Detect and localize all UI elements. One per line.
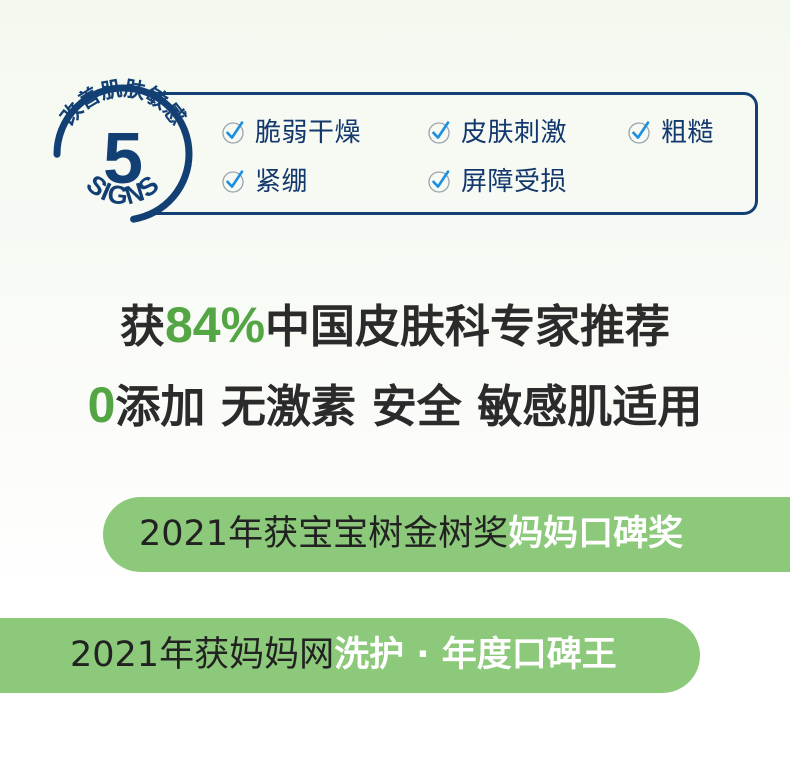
sign-item-4: 屏障受损 bbox=[427, 169, 627, 195]
signs-checklist-panel: 脆弱干燥 皮肤刺激 粗糙 bbox=[205, 92, 758, 215]
award-banner-2-emphasis: 洗护 · 年度口碑王 bbox=[334, 635, 617, 675]
check-circle-icon bbox=[627, 120, 652, 145]
five-signs-badge: 改善肌肤敏感 5 SIGNS bbox=[47, 78, 199, 230]
headline-zero-value: 0 bbox=[88, 377, 116, 433]
headline-line2-suffix: 添加 无激素 安全 敏感肌适用 bbox=[115, 380, 702, 433]
headline-line1-suffix: 中国皮肤科专家推荐 bbox=[265, 300, 670, 353]
award-banner-1-emphasis: 妈妈口碑奖 bbox=[508, 514, 683, 554]
sign-label: 脆弱干燥 bbox=[255, 120, 361, 146]
award-banner-1-text: 2021年获宝宝树金树奖妈妈口碑奖 bbox=[139, 517, 683, 552]
check-circle-icon bbox=[221, 120, 246, 145]
check-circle-icon bbox=[427, 120, 452, 145]
award-banner-2-plain: 2021年获妈妈网 bbox=[70, 635, 334, 675]
headline-block: 获84%中国皮肤科专家推荐 0添加 无激素 安全 敏感肌适用 bbox=[0, 292, 790, 440]
headline-line1-prefix: 获 bbox=[120, 300, 165, 353]
check-circle-icon bbox=[221, 169, 246, 194]
headline-line-1: 获84%中国皮肤科专家推荐 bbox=[0, 292, 790, 360]
award-banner-2: 2021年获妈妈网洗护 · 年度口碑王 bbox=[0, 618, 700, 693]
sign-item-0: 脆弱干燥 bbox=[221, 120, 427, 146]
sign-item-2: 粗糙 bbox=[627, 120, 751, 146]
product-feature-graphic: 改善肌肤敏感 5 SIGNS 脆弱干燥 bbox=[0, 0, 790, 764]
sign-label: 屏障受损 bbox=[461, 169, 567, 195]
headline-percent-value: 84% bbox=[165, 297, 265, 353]
award-banner-1: 2021年获宝宝树金树奖妈妈口碑奖 bbox=[103, 497, 790, 572]
sign-item-1: 皮肤刺激 bbox=[427, 120, 627, 146]
award-banner-1-plain: 2021年获宝宝树金树奖 bbox=[139, 514, 508, 554]
sign-item-3: 紧绷 bbox=[221, 169, 427, 195]
award-banner-2-text: 2021年获妈妈网洗护 · 年度口碑王 bbox=[70, 638, 617, 673]
signs-checklist-grid: 脆弱干燥 皮肤刺激 粗糙 bbox=[221, 108, 751, 206]
check-circle-icon bbox=[427, 169, 452, 194]
sign-label: 皮肤刺激 bbox=[461, 120, 567, 146]
sign-label: 紧绷 bbox=[255, 169, 308, 195]
sign-label: 粗糙 bbox=[661, 120, 714, 146]
headline-line-2: 0添加 无激素 安全 敏感肌适用 bbox=[0, 372, 790, 440]
